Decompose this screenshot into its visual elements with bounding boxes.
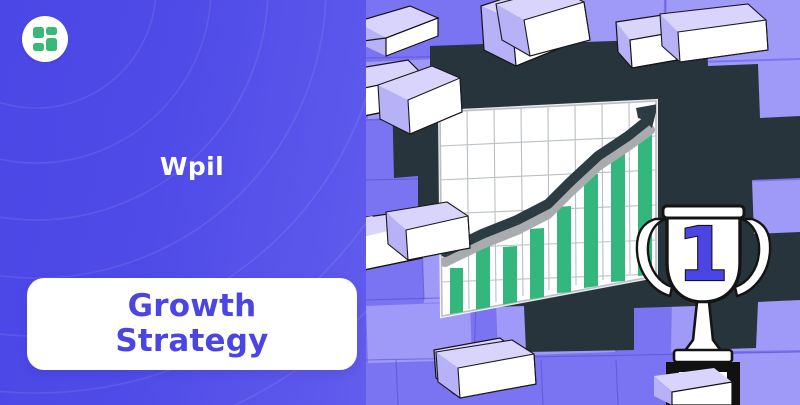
- flying-brick: [496, 0, 590, 56]
- flying-brick: [436, 340, 536, 398]
- flying-brick: [660, 4, 768, 62]
- flying-bricks-over-gradient: [0, 0, 800, 405]
- flying-brick: [386, 202, 470, 260]
- flying-brick: [378, 66, 462, 134]
- growth-strategy-banner: Wpil Growth Strategy: [0, 0, 800, 405]
